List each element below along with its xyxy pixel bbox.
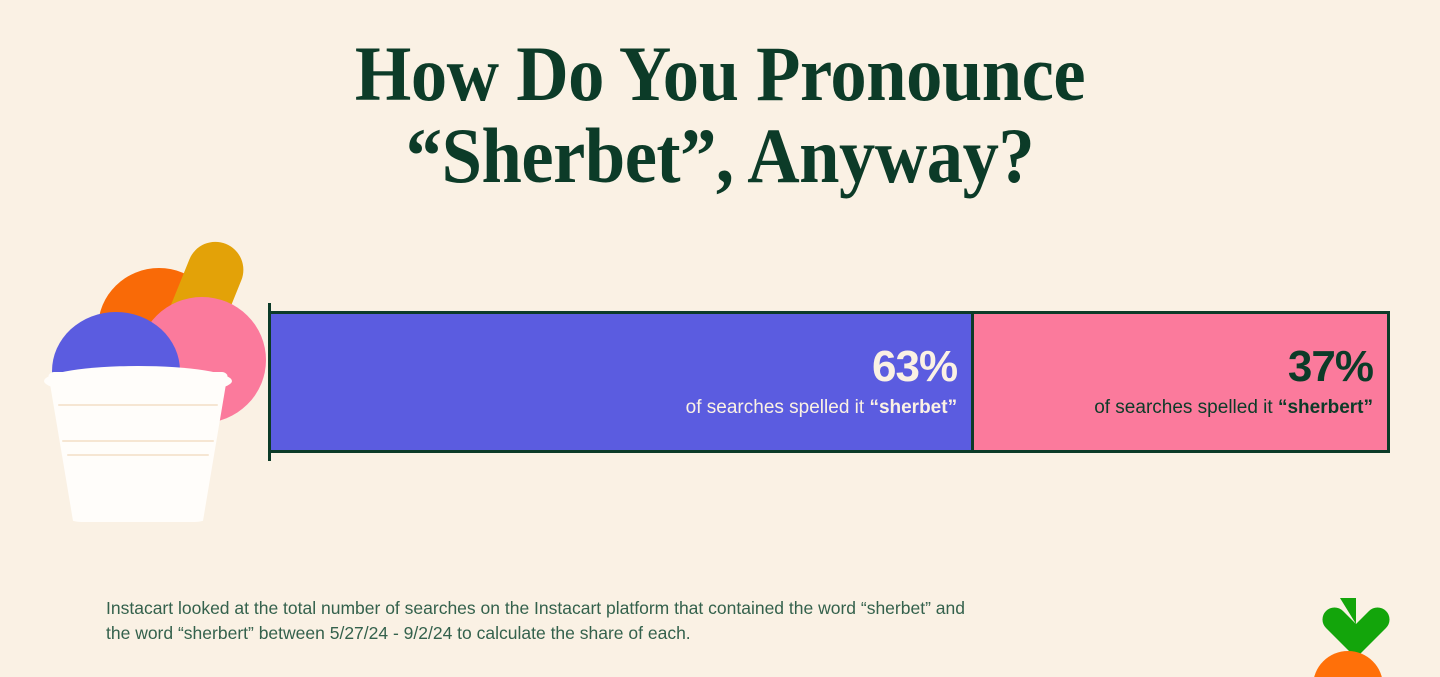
carrot-top-arrow-icon bbox=[1322, 598, 1389, 658]
cup-rim-icon bbox=[44, 366, 232, 396]
title-line-1: How Do You Pronounce bbox=[50, 36, 1389, 112]
stacked-bar-chart: 63% of searches spelled it “sherbet” 37%… bbox=[268, 311, 1390, 453]
bar-sub-prefix: of searches spelled it bbox=[1094, 397, 1278, 418]
bar-sub-prefix: of searches spelled it bbox=[686, 397, 870, 418]
footnote: Instacart looked at the total number of … bbox=[106, 596, 1196, 647]
footnote-line-2: the word “sherbert” between 5/27/24 - 9/… bbox=[106, 621, 1196, 646]
bar-sub-bold: “sherbert” bbox=[1278, 397, 1373, 418]
bar-percent-label-sherbet: 63% bbox=[872, 345, 957, 389]
bar-segment-sherbet: 63% of searches spelled it “sherbet” bbox=[271, 314, 974, 450]
cup-ridge-icon bbox=[62, 440, 214, 442]
instacart-carrot-logo bbox=[1300, 590, 1396, 677]
cup-ridge-icon bbox=[58, 404, 218, 406]
bar-percent-label-sherbert: 37% bbox=[1288, 345, 1373, 389]
ice-cream-cup-illustration bbox=[42, 232, 274, 532]
cup-ridge-icon bbox=[67, 454, 209, 456]
bar-sub-bold: “sherbet” bbox=[869, 397, 957, 418]
carrot-body-icon bbox=[1313, 651, 1383, 677]
bar-segment-sherbert: 37% of searches spelled it “sherbert” bbox=[974, 314, 1387, 450]
footnote-line-1: Instacart looked at the total number of … bbox=[106, 596, 1196, 621]
bar-sub-label-sherbert: of searches spelled it “sherbert” bbox=[1094, 397, 1373, 420]
bar-sub-label-sherbet: of searches spelled it “sherbet” bbox=[686, 397, 957, 420]
title-line-2: “Sherbet”, Anyway? bbox=[50, 118, 1389, 194]
page-title: How Do You Pronounce “Sherbet”, Anyway? bbox=[0, 36, 1440, 195]
